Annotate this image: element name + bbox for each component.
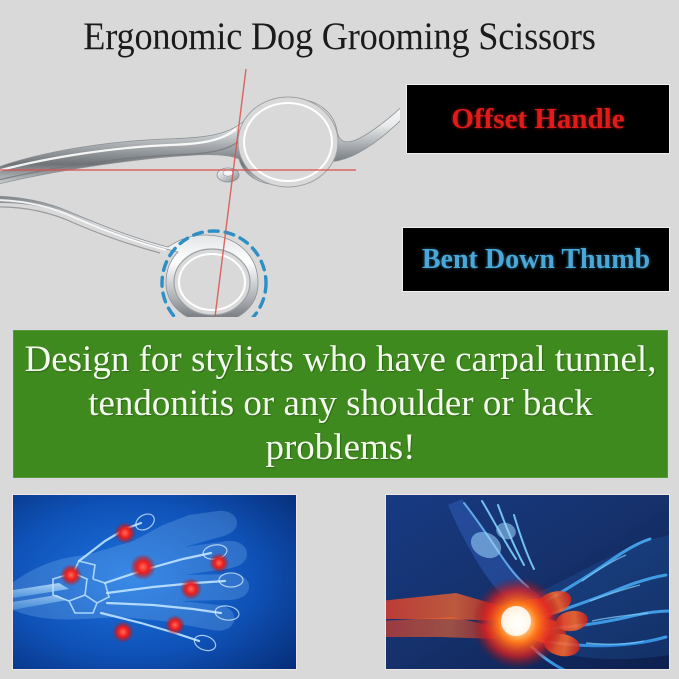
- xray-hand-joints-graphic: [13, 495, 296, 669]
- benefit-banner: Design for stylists who have carpal tunn…: [13, 330, 668, 478]
- photo-xray-wrist-pain: [385, 494, 670, 670]
- photo-xray-hand-joints: [12, 494, 297, 670]
- upper-blade-and-handle: [0, 97, 400, 187]
- scissors-graphic: [0, 55, 400, 317]
- lower-blade-and-handle: [0, 196, 258, 317]
- callout-offset-handle: Offset Handle: [407, 85, 669, 153]
- callout-bent-down-thumb-label: Bent Down Thumb: [422, 244, 650, 276]
- scissors-illustration: [0, 55, 400, 317]
- product-infographic: Ergonomic Dog Grooming Scissors: [0, 0, 679, 679]
- page-title: Ergonomic Dog Grooming Scissors: [24, 14, 655, 60]
- callout-offset-handle-label: Offset Handle: [451, 103, 624, 136]
- xray-wrist-pain-graphic: [386, 495, 669, 669]
- callout-bent-down-thumb: Bent Down Thumb: [403, 228, 669, 291]
- benefit-banner-text: Design for stylists who have carpal tunn…: [21, 338, 661, 470]
